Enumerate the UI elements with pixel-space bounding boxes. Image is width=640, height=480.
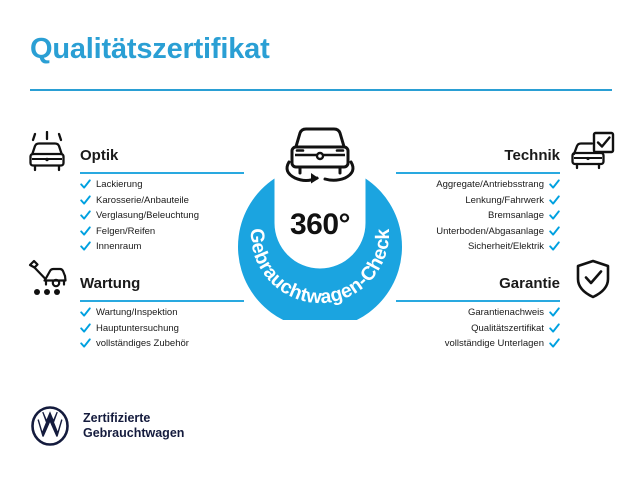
check-icon [80, 323, 91, 334]
list-item-label: Aggregate/Antriebsstrang [436, 179, 544, 190]
list-item-label: Innenraum [96, 241, 141, 252]
check-icon [80, 241, 91, 252]
section-header-wartung: Wartung [24, 259, 244, 305]
list-item: Sicherheit/Elektrik [396, 239, 560, 255]
check-icon [549, 195, 560, 206]
list-item-label: Unterboden/Abgasanlage [436, 226, 544, 237]
list-item: Lackierung [80, 177, 244, 193]
list-item-label: Hauptuntersuchung [96, 323, 179, 334]
check-icon [549, 307, 560, 318]
section-title-optik: Optik [80, 147, 118, 164]
car-checkbox-icon [570, 131, 616, 173]
section-underline-wartung [80, 300, 244, 302]
check-icon [549, 226, 560, 237]
list-item-label: Felgen/Reifen [96, 226, 155, 237]
list-item: Lenkung/Fahrwerk [396, 193, 560, 209]
list-item: Karosserie/Anbauteile [80, 193, 244, 209]
list-item: Innenraum [80, 239, 244, 255]
list-item-label: Garantienachweis [468, 307, 544, 318]
section-garantie: Garantie Garantienachweis Qualitätszerti… [396, 259, 616, 352]
list-item: Garantienachweis [396, 305, 560, 321]
list-item: vollständige Unterlagen [396, 336, 560, 352]
list-item: Qualitätszertifikat [396, 321, 560, 337]
title-divider [30, 89, 612, 91]
car-shine-icon [24, 131, 70, 173]
certificate-page: Qualitätszertifikat [0, 0, 640, 480]
shield-check-icon [570, 259, 616, 301]
check-icon [80, 307, 91, 318]
section-title-garantie: Garantie [499, 275, 560, 292]
footer-branding: Zertifizierte Gebrauchtwagen [30, 406, 184, 446]
list-item: Hauptuntersuchung [80, 321, 244, 337]
badge-360-gebrauchtwagen-check: Gebrauchtwagen-Check 360° [224, 148, 416, 320]
list-item-label: Sicherheit/Elektrik [468, 241, 544, 252]
car-rotation-icon [273, 118, 367, 188]
list-item-label: vollständiges Zubehör [96, 338, 189, 349]
badge-degrees-label: 360° [224, 208, 416, 242]
check-icon [549, 323, 560, 334]
section-header-technik: Technik [396, 131, 616, 177]
car-service-tool-icon [24, 259, 70, 301]
section-title-wartung: Wartung [80, 275, 140, 292]
page-title: Qualitätszertifikat [30, 33, 270, 66]
checklist-optik: Lackierung Karosserie/Anbauteile Verglas… [24, 177, 244, 255]
section-technik: Technik Aggregate/Antriebsstrang Lenkung… [396, 131, 616, 255]
footer-line-1: Zertifizierte [83, 411, 184, 426]
list-item-label: vollständige Unterlagen [445, 338, 544, 349]
checklist-wartung: Wartung/Inspektion Hauptuntersuchung vol… [24, 305, 244, 352]
footer-text: Zertifizierte Gebrauchtwagen [83, 411, 184, 441]
check-icon [80, 179, 91, 190]
section-header-optik: Optik [24, 131, 244, 177]
section-wartung: Wartung Wartung/Inspektion Hauptuntersuc… [24, 259, 244, 352]
section-title-technik: Technik [504, 147, 560, 164]
list-item-label: Wartung/Inspektion [96, 307, 178, 318]
section-underline-optik [80, 172, 244, 174]
section-underline-garantie [396, 300, 560, 302]
list-item-label: Verglasung/Beleuchtung [96, 210, 199, 221]
list-item-label: Qualitätszertifikat [471, 323, 544, 334]
check-icon [549, 241, 560, 252]
section-optik: Optik Lackierung Karosserie/Anbauteile V… [24, 131, 244, 255]
list-item: Wartung/Inspektion [80, 305, 244, 321]
check-icon [549, 179, 560, 190]
footer-line-2: Gebrauchtwagen [83, 426, 184, 441]
checklist-technik: Aggregate/Antriebsstrang Lenkung/Fahrwer… [396, 177, 616, 255]
list-item-label: Lackierung [96, 179, 142, 190]
check-icon [80, 338, 91, 349]
check-icon [80, 195, 91, 206]
check-icon [549, 210, 560, 221]
check-icon [549, 338, 560, 349]
list-item-label: Bremsanlage [488, 210, 544, 221]
check-icon [80, 210, 91, 221]
volkswagen-logo [30, 406, 70, 446]
section-header-garantie: Garantie [396, 259, 616, 305]
list-item: Bremsanlage [396, 208, 560, 224]
checklist-garantie: Garantienachweis Qualitätszertifikat vol… [396, 305, 616, 352]
list-item: Felgen/Reifen [80, 224, 244, 240]
section-underline-technik [396, 172, 560, 174]
list-item: Verglasung/Beleuchtung [80, 208, 244, 224]
check-icon [80, 226, 91, 237]
list-item: Aggregate/Antriebsstrang [396, 177, 560, 193]
list-item-label: Karosserie/Anbauteile [96, 195, 189, 206]
list-item: Unterboden/Abgasanlage [396, 224, 560, 240]
list-item: vollständiges Zubehör [80, 336, 244, 352]
list-item-label: Lenkung/Fahrwerk [465, 195, 544, 206]
